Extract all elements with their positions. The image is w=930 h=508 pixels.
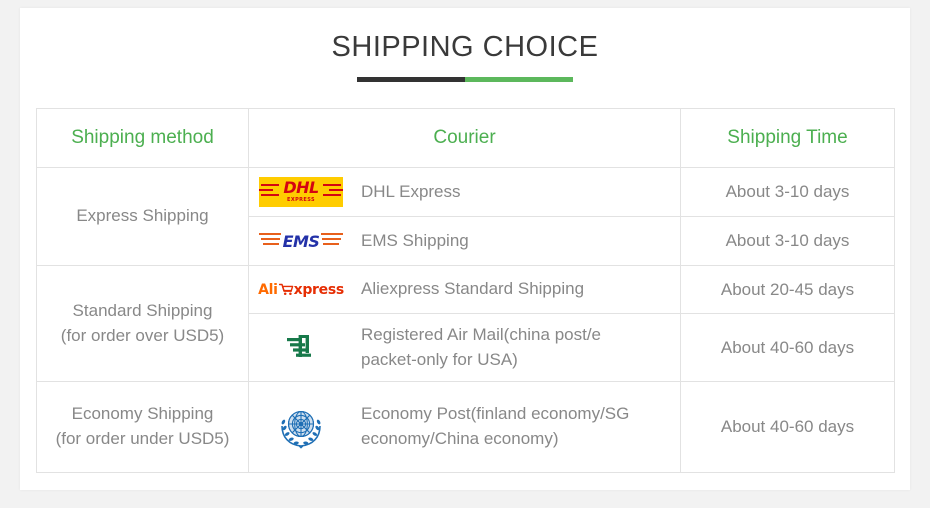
table-header-row: Shipping method Courier Shipping Time [37, 109, 895, 168]
column-header-courier: Courier [249, 109, 681, 168]
shipping-method-economy: Economy Shipping (for order under USD5) [37, 382, 249, 473]
shipping-method-note: (for order over USD5) [37, 324, 248, 349]
china-post-logo [249, 325, 353, 371]
courier-label: DHL Express [353, 180, 461, 205]
column-header-shipping-time: Shipping Time [681, 109, 895, 168]
courier-label: Registered Air Mail(china post/e packet-… [353, 323, 653, 372]
united-nations-logo [249, 404, 353, 450]
shipping-method-label: Standard Shipping [37, 299, 248, 324]
courier-cell-dhl: DHL EXPRESS DHL Express [249, 168, 681, 217]
table-row: Economy Shipping (for order under USD5) [37, 382, 895, 473]
shipping-method-express: Express Shipping [37, 168, 249, 266]
shipping-time-cell: About 20-45 days [681, 266, 895, 314]
page-title: SHIPPING CHOICE [20, 32, 910, 64]
shipping-method-standard: Standard Shipping (for order over USD5) [37, 266, 249, 382]
courier-label: Economy Post(finland economy/SG economy/… [353, 402, 661, 451]
shipping-choice-card: SHIPPING CHOICE Shipping method Courier … [20, 8, 910, 490]
shipping-time-cell: About 3-10 days [681, 168, 895, 217]
title-underline [357, 77, 573, 82]
shipping-time-cell: About 40-60 days [681, 382, 895, 473]
dhl-logo: DHL EXPRESS [249, 169, 353, 215]
shipping-method-label: Express Shipping [76, 206, 208, 225]
courier-cell-china-post: Registered Air Mail(china post/e packet-… [249, 314, 681, 382]
shipping-method-note: (for order under USD5) [37, 427, 248, 452]
aliexpress-logo: Ali xpress [249, 267, 353, 313]
table-row: Standard Shipping (for order over USD5) … [37, 266, 895, 314]
shipping-time-cell: About 3-10 days [681, 217, 895, 266]
courier-label: EMS Shipping [353, 229, 469, 254]
table-row: Express Shipping DHL EXPRESS DHL Expr [37, 168, 895, 217]
ems-logo: EMS [249, 218, 353, 264]
title-underline-green-segment [465, 77, 573, 82]
table-body: Express Shipping DHL EXPRESS DHL Expr [37, 168, 895, 473]
column-header-shipping-method: Shipping method [37, 109, 249, 168]
title-block: SHIPPING CHOICE [20, 8, 910, 82]
courier-cell-ems: EMS EMS Shipping [249, 217, 681, 266]
title-underline-dark-segment [357, 77, 465, 82]
shipping-method-label: Economy Shipping [37, 402, 248, 427]
shipping-time-cell: About 40-60 days [681, 314, 895, 382]
shipping-options-table: Shipping method Courier Shipping Time Ex… [36, 108, 895, 473]
courier-cell-aliexpress: Ali xpress Aliexpress Standard Shi [249, 266, 681, 314]
courier-label: Aliexpress Standard Shipping [353, 277, 584, 302]
table-header: Shipping method Courier Shipping Time [37, 109, 895, 168]
courier-cell-economy-post: Economy Post(finland economy/SG economy/… [249, 382, 681, 473]
shopping-cart-icon [279, 283, 294, 296]
